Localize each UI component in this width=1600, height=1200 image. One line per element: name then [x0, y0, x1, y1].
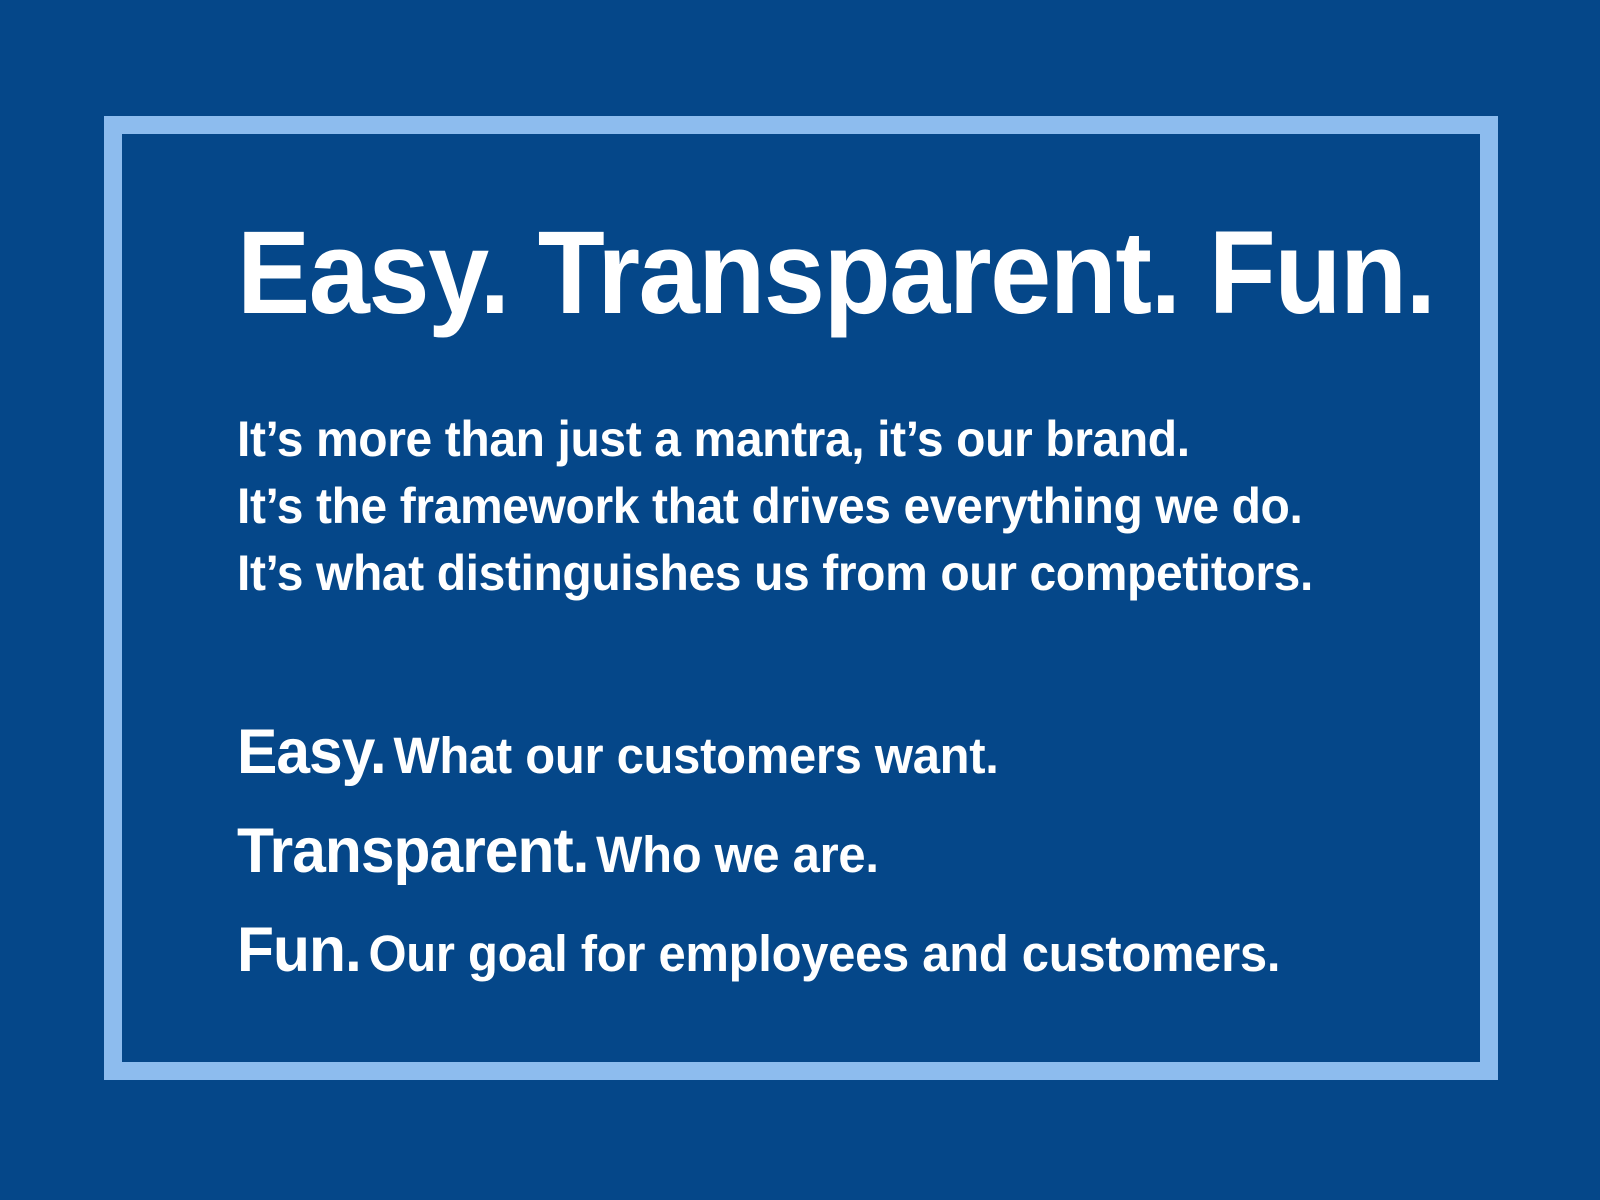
intro-line-2: It’s the framework that drives everythin…: [237, 473, 1389, 540]
list-item: Fun.Our goal for employees and customers…: [237, 909, 1389, 1008]
intro-paragraph: It’s more than just a mantra, it’s our b…: [237, 406, 1389, 607]
pillar-description-easy: What our customers want.: [386, 727, 999, 784]
list-item: Easy.What our customers want.: [237, 711, 1389, 810]
slide-content: Easy. Transparent. Fun. It’s more than j…: [237, 214, 1437, 1008]
pillar-description-fun: Our goal for employees and customers.: [361, 925, 1280, 982]
pillar-term-fun: Fun.: [237, 915, 361, 985]
page-title: Easy. Transparent. Fun.: [237, 214, 1353, 332]
pillar-list: Easy.What our customers want. Transparen…: [237, 711, 1437, 1008]
paragraph-spacer: [237, 607, 1437, 711]
intro-line-3: It’s what distinguishes us from our comp…: [237, 540, 1389, 607]
list-item: Transparent.Who we are.: [237, 810, 1389, 909]
pillar-term-transparent: Transparent.: [237, 816, 588, 886]
pillar-description-transparent: Who we are.: [588, 826, 878, 883]
intro-line-1: It’s more than just a mantra, it’s our b…: [237, 406, 1389, 473]
pillar-term-easy: Easy.: [237, 717, 386, 787]
brand-mantra-slide: Easy. Transparent. Fun. It’s more than j…: [0, 0, 1600, 1200]
